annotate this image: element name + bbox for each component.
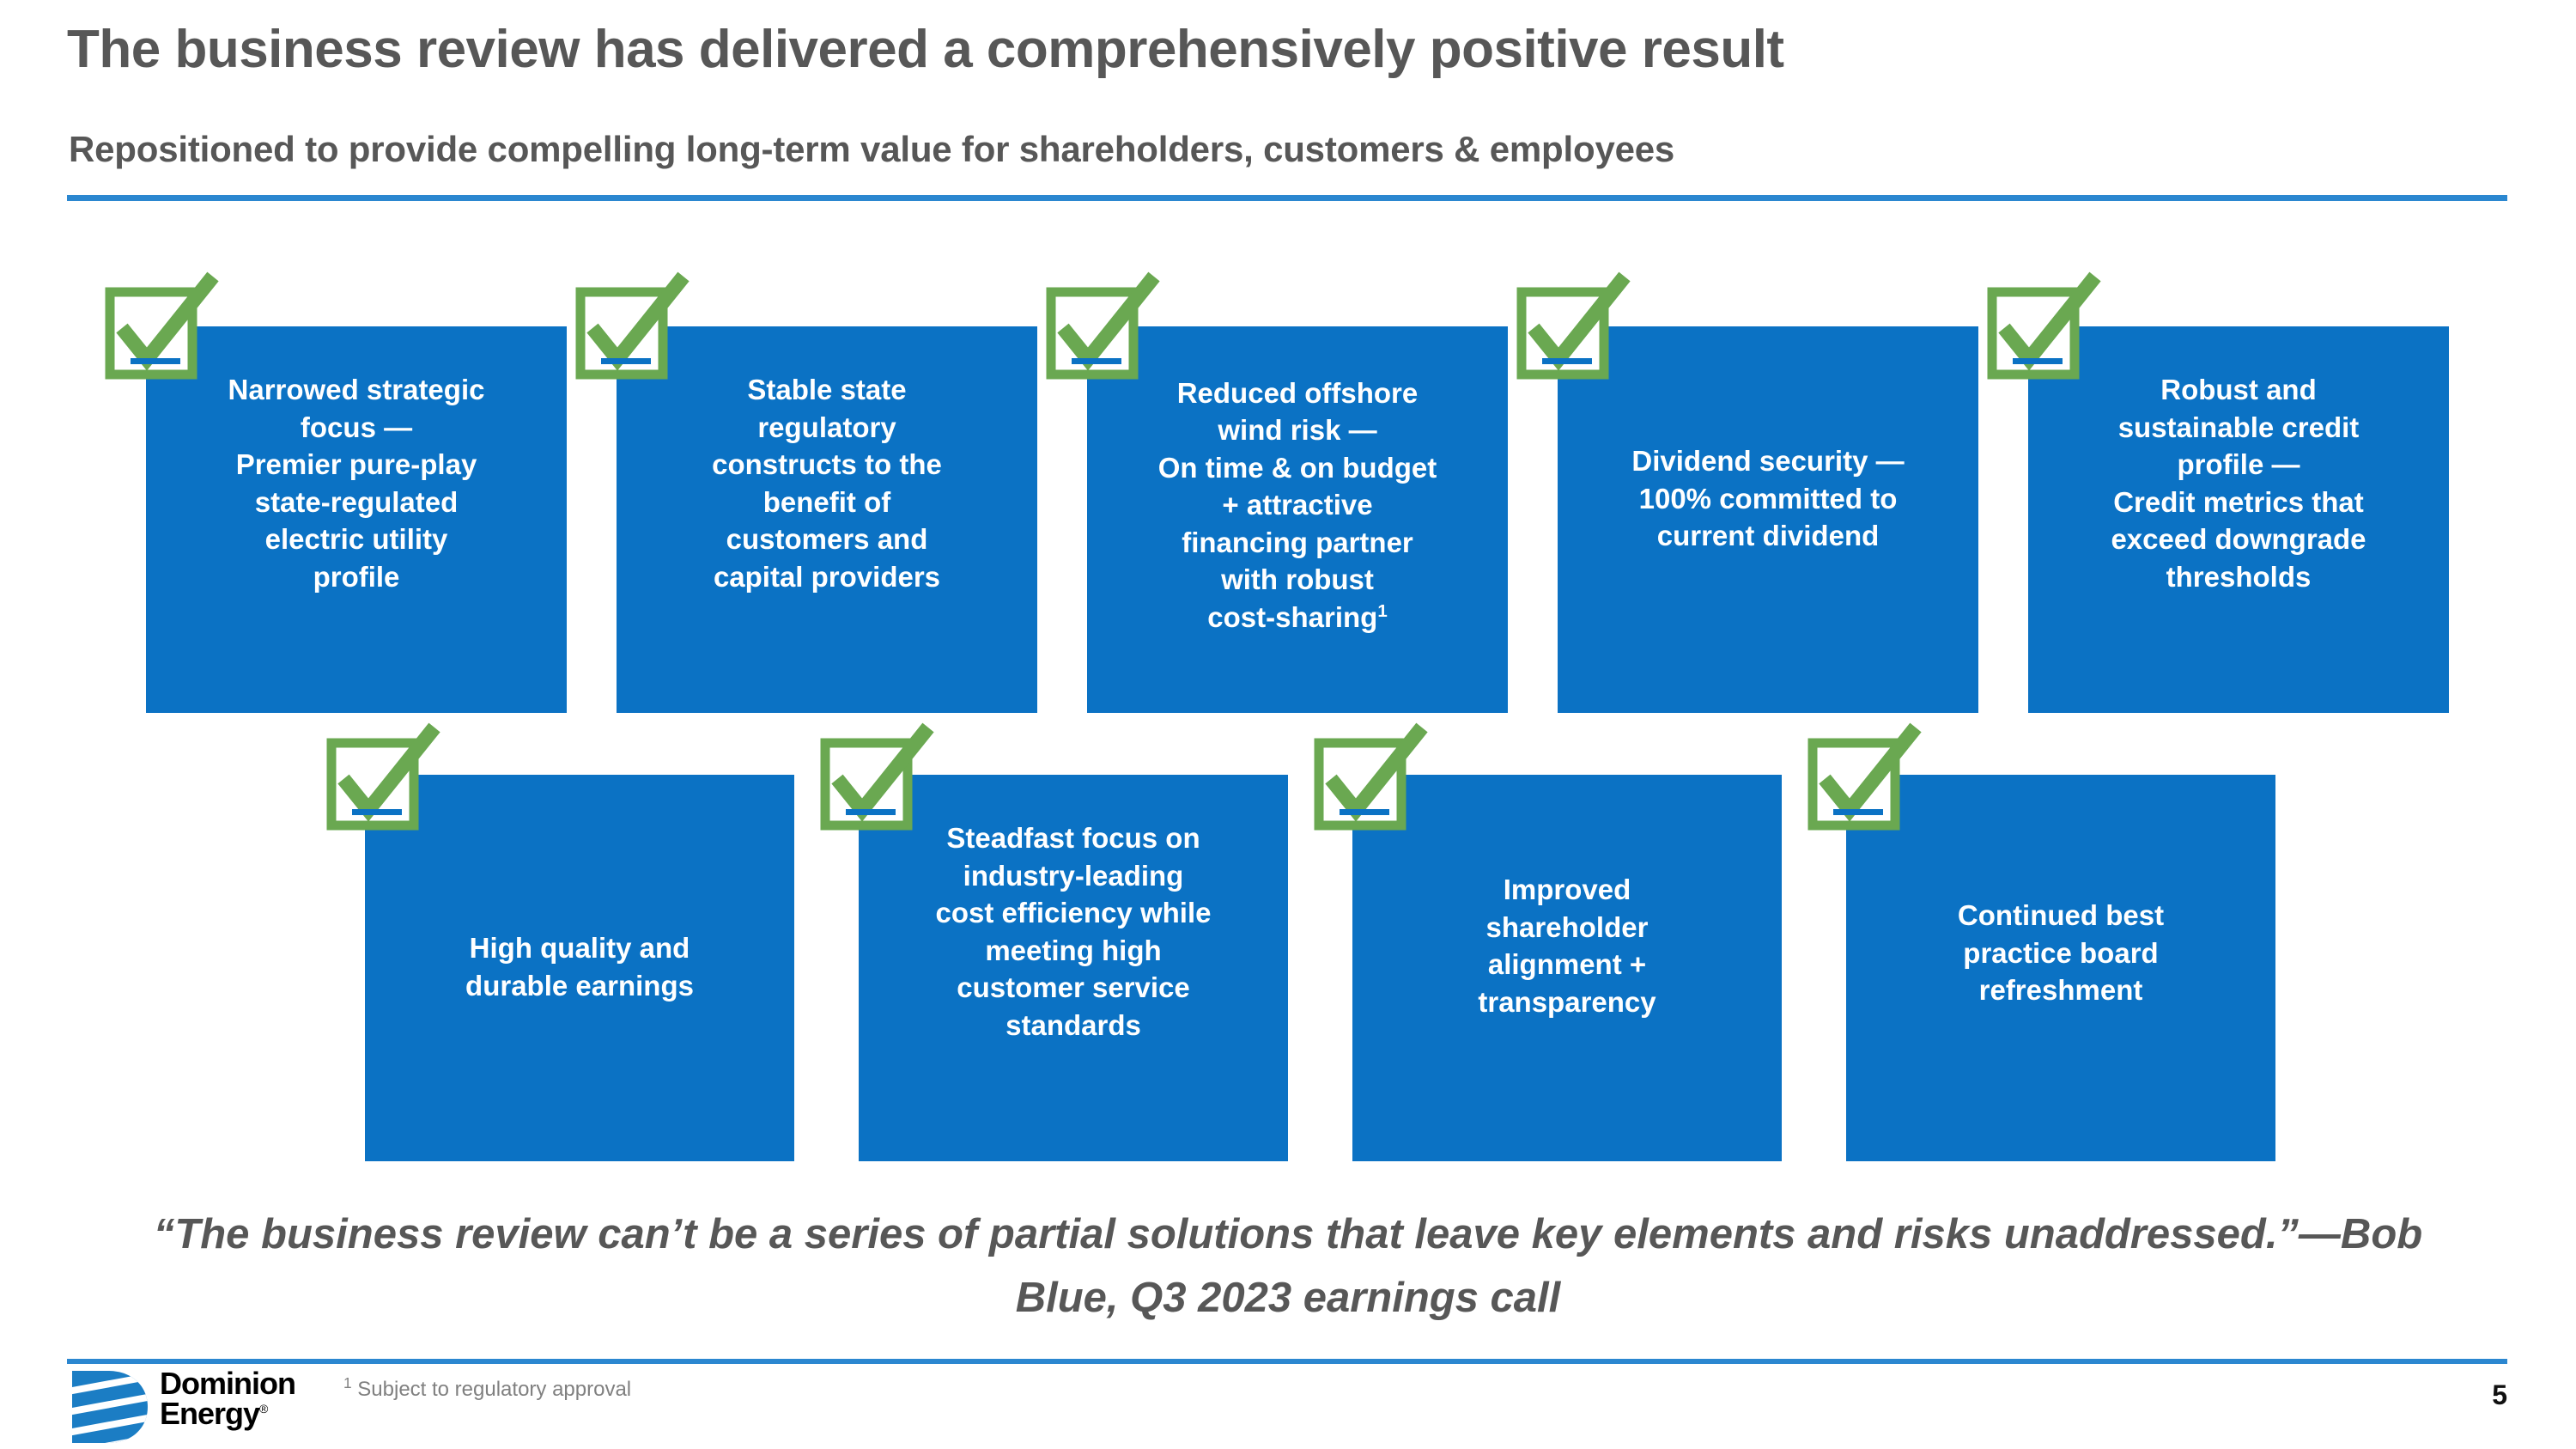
header-divider	[67, 195, 2507, 201]
card-steadfast-cost-efficiency: Steadfast focus on industry-leading cost…	[859, 775, 1288, 1161]
registered-mark: ®	[259, 1402, 267, 1416]
check-box-icon	[326, 726, 416, 815]
page-title: The business review has delivered a comp…	[67, 19, 1784, 80]
card-text: Reduced offshore wind risk — On time & o…	[1087, 337, 1508, 636]
pull-quote: “The business review can’t be a series o…	[129, 1202, 2447, 1330]
card-text: Dividend security — 100% committed to cu…	[1558, 442, 1978, 555]
check-box-icon	[1807, 726, 1897, 815]
card-text-body: Reduced offshore wind risk — On time & o…	[1158, 377, 1437, 633]
card-high-quality-durable-earnings: High quality and durable earnings	[365, 775, 794, 1161]
card-text: High quality and durable earnings	[365, 929, 794, 1004]
check-box-icon	[1516, 275, 1606, 364]
logo-line-2: Energy	[160, 1396, 259, 1431]
footnote-marker: 1	[343, 1374, 352, 1391]
page-number: 5	[2492, 1379, 2507, 1411]
card-text: Continued best practice board refreshmen…	[1846, 897, 2275, 1009]
card-robust-credit-profile: Robust and sustainable credit profile — …	[2028, 326, 2449, 713]
card-continued-board-refreshment: Continued best practice board refreshmen…	[1846, 775, 2275, 1161]
card-improved-shareholder-alignment: Improved shareholder alignment + transpa…	[1352, 775, 1782, 1161]
check-box-icon	[820, 726, 909, 815]
logo-line-1: Dominion	[160, 1369, 295, 1399]
footnote: 1 Subject to regulatory approval	[343, 1374, 631, 1402]
logo-wordmark: Dominion Energy®	[160, 1369, 295, 1428]
card-reduced-offshore-wind-risk: Reduced offshore wind risk — On time & o…	[1087, 326, 1508, 713]
dominion-energy-logo: Dominion Energy®	[67, 1369, 295, 1445]
card-stable-state-regulatory: Stable state regulatory constructs to th…	[617, 326, 1037, 713]
card-text: Steadfast focus on industry-leading cost…	[859, 819, 1288, 1044]
footnote-marker: 1	[1377, 601, 1387, 621]
footnote-text: Subject to regulatory approval	[357, 1378, 631, 1401]
footer-divider	[67, 1359, 2507, 1364]
card-narrowed-strategic-focus: Narrowed strategic focus — Premier pure-…	[146, 326, 567, 713]
check-box-icon	[575, 275, 665, 364]
check-box-icon	[1314, 726, 1403, 815]
card-text: Robust and sustainable credit profile — …	[2028, 371, 2449, 595]
card-text: Stable state regulatory constructs to th…	[617, 371, 1037, 595]
dominion-d-logo-icon	[67, 1369, 149, 1445]
card-text: Improved shareholder alignment + transpa…	[1352, 871, 1782, 1020]
check-box-icon	[105, 275, 194, 364]
page-subtitle: Repositioned to provide compelling long-…	[69, 129, 1674, 170]
card-dividend-security: Dividend security — 100% committed to cu…	[1558, 326, 1978, 713]
card-text: Narrowed strategic focus — Premier pure-…	[146, 371, 567, 595]
check-box-icon	[1046, 275, 1135, 364]
check-box-icon	[1987, 275, 2076, 364]
